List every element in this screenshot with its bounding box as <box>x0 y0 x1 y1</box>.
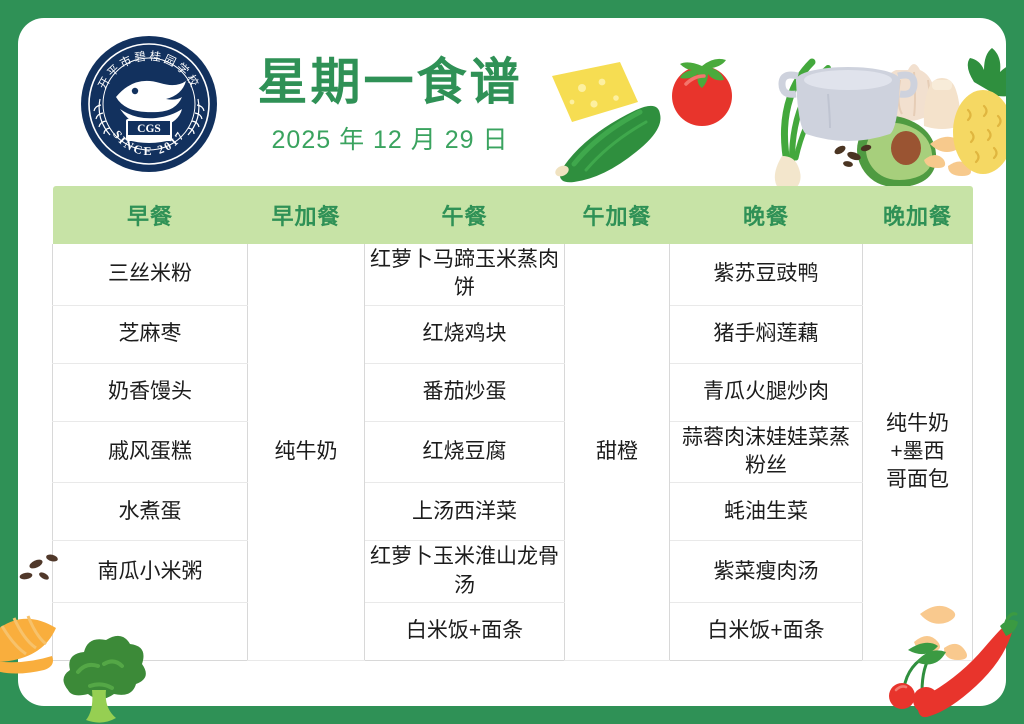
column-header-lunch: 午餐 <box>365 186 565 244</box>
menu-date: 2025 年 12 月 29 日 <box>240 120 540 156</box>
column-header-breakfast: 早餐 <box>53 186 248 244</box>
table-row: 白米饭+面条 白米饭+面条 <box>53 603 973 661</box>
cell-dinner-2: 猪手焖莲藕 <box>670 305 863 363</box>
menu-poster: 开平市碧桂园学校 SINCE 2017 <box>0 0 1024 724</box>
broccoli-icon <box>63 636 145 723</box>
chili-pepper-icon <box>918 614 1018 717</box>
cell-breakfast-2: 芝麻枣 <box>53 305 248 363</box>
cell-dinner-4: 蒜蓉肉沫娃娃菜蒸粉丝 <box>670 421 863 483</box>
cell-lunch-1: 红萝卜马蹄玉米蒸肉饼 <box>365 244 565 305</box>
cell-lunch-5: 上汤西洋菜 <box>365 483 565 541</box>
cell-dinner-6: 紫菜瘦肉汤 <box>670 541 863 603</box>
table-row: 南瓜小米粥 红萝卜玉米淮山龙骨汤 紫菜瘦肉汤 <box>53 541 973 603</box>
cell-lunch-4: 红烧豆腐 <box>365 421 565 483</box>
cell-breakfast-4: 戚风蛋糕 <box>53 421 248 483</box>
cell-lunch-2: 红烧鸡块 <box>365 305 565 363</box>
cell-dinner-1: 紫苏豆豉鸭 <box>670 244 863 305</box>
page-title: 星期一食谱 <box>240 54 540 112</box>
column-header-evening-snack: 晚加餐 <box>863 186 973 244</box>
cell-breakfast-3: 奶香馒头 <box>53 363 248 421</box>
table-row: 芝麻枣 红烧鸡块 猪手焖莲藕 <box>53 305 973 363</box>
bottom-left-decorations <box>0 540 170 724</box>
table-row: 奶香馒头 番茄炒蛋 青瓜火腿炒肉 <box>53 363 973 421</box>
cooking-pot-icon <box>584 80 692 104</box>
menu-table-wrapper: 早餐 早加餐 午餐 午加餐 晚餐 晚加餐 三丝米粉 纯牛奶 红萝卜马蹄玉米蒸肉饼… <box>52 186 972 661</box>
cell-lunch-6: 红萝卜玉米淮山龙骨汤 <box>365 541 565 603</box>
cell-lunch-3: 番茄炒蛋 <box>365 363 565 421</box>
bottom-right-decorations <box>868 600 1024 724</box>
cell-dinner-5: 蚝油生菜 <box>670 483 863 541</box>
menu-table: 早餐 早加餐 午餐 午加餐 晚餐 晚加餐 三丝米粉 纯牛奶 红萝卜马蹄玉米蒸肉饼… <box>52 186 973 661</box>
cucumber-icon <box>554 106 661 182</box>
school-logo: 开平市碧桂园学校 SINCE 2017 <box>80 35 218 173</box>
evening-snack-line-1: 纯牛奶 <box>867 410 968 438</box>
cell-morning-snack: 纯牛奶 <box>248 244 365 661</box>
table-row: 三丝米粉 纯牛奶 红萝卜马蹄玉米蒸肉饼 甜橙 紫苏豆豉鸭 纯牛奶 +墨西 哥面包 <box>53 244 973 305</box>
title-block: 星期一食谱 2025 年 12 月 29 日 <box>240 54 540 156</box>
table-header-row: 早餐 早加餐 午餐 午加餐 晚餐 晚加餐 <box>53 186 973 244</box>
cell-breakfast-1: 三丝米粉 <box>53 244 248 305</box>
cell-dinner-3: 青瓜火腿炒肉 <box>670 363 863 421</box>
column-header-afternoon-snack: 午加餐 <box>565 186 670 244</box>
evening-snack-line-3: 哥面包 <box>867 466 968 494</box>
table-row: 水煮蛋 上汤西洋菜 蚝油生菜 <box>53 483 973 541</box>
cell-breakfast-5: 水煮蛋 <box>53 483 248 541</box>
pineapple-icon <box>953 48 1006 174</box>
cell-lunch-7: 白米饭+面条 <box>365 603 565 661</box>
poster-header: 开平市碧桂园学校 SINCE 2017 <box>18 18 1006 178</box>
citrus-reamer-icon <box>0 616 56 674</box>
table-row: 戚风蛋糕 红烧豆腐 蒜蓉肉沫娃娃菜蒸粉丝 <box>53 421 973 483</box>
cell-afternoon-snack: 甜橙 <box>565 244 670 661</box>
seeds-icon <box>19 553 58 581</box>
seeds-icon <box>833 144 872 168</box>
column-header-dinner: 晚餐 <box>670 186 863 244</box>
cell-dinner-7: 白米饭+面条 <box>670 603 863 661</box>
cooking-pot-icon <box>782 67 914 141</box>
evening-snack-line-2: +墨西 <box>867 438 968 466</box>
cell-evening-snack: 纯牛奶 +墨西 哥面包 <box>863 244 973 661</box>
top-right-decorations <box>778 46 1006 192</box>
column-header-morning-snack: 早加餐 <box>248 186 365 244</box>
logo-monogram: CGS <box>137 123 161 135</box>
